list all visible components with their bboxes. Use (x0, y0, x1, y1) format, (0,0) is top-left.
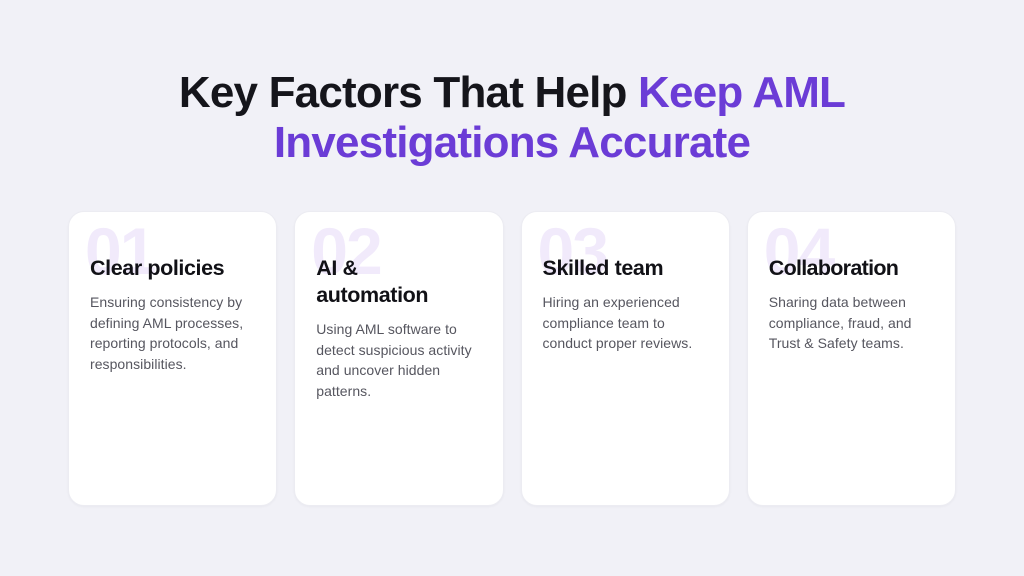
card-content: AI & automation Using AML software to de… (295, 212, 502, 401)
card-body-text: Ensuring consistency by defining AML pro… (90, 292, 254, 374)
slide-canvas: Key Factors That Help Keep AML Investiga… (0, 0, 1024, 576)
card-body-text: Sharing data between compliance, fraud, … (769, 292, 933, 354)
title-accent-text: Keep AML (638, 68, 845, 117)
factor-card-clear-policies: 01 Clear policies Ensuring consistency b… (68, 211, 277, 506)
card-content: Clear policies Ensuring consistency by d… (69, 212, 276, 374)
card-body-text: Hiring an experienced compliance team to… (543, 292, 707, 354)
factor-card-collaboration: 04 Collaboration Sharing data between co… (747, 211, 956, 506)
title-line-2: Investigations Accurate (0, 118, 1024, 168)
factor-card-ai-automation: 02 AI & automation Using AML software to… (294, 211, 503, 506)
card-heading: AI & automation (316, 255, 434, 309)
card-heading: Clear policies (90, 255, 254, 282)
card-heading: Collaboration (769, 255, 933, 282)
card-heading: Skilled team (543, 255, 707, 282)
card-content: Collaboration Sharing data between compl… (748, 212, 955, 354)
factor-card-skilled-team: 03 Skilled team Hiring an experienced co… (521, 211, 730, 506)
card-content: Skilled team Hiring an experienced compl… (522, 212, 729, 354)
factor-card-list: 01 Clear policies Ensuring consistency b… (68, 211, 956, 506)
title-line-1: Key Factors That Help Keep AML (0, 68, 1024, 118)
page-title: Key Factors That Help Keep AML Investiga… (0, 68, 1024, 168)
title-plain-text: Key Factors That Help (179, 68, 638, 117)
card-body-text: Using AML software to detect suspicious … (316, 319, 480, 401)
